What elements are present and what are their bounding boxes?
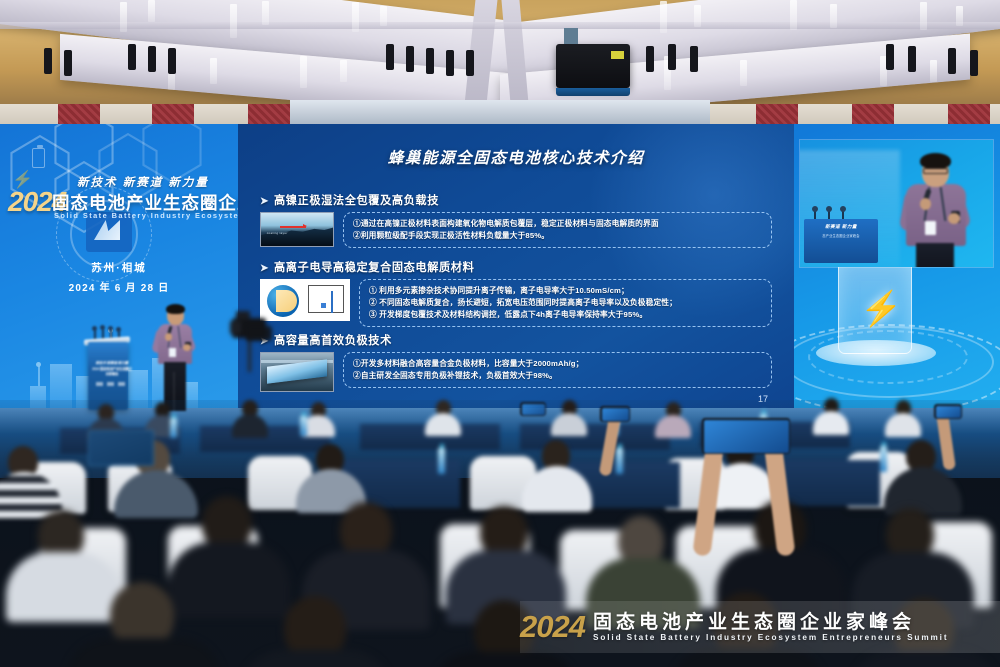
- feed-podium: 新赛道 新力量 态产业生态圈企业家峰会: [804, 219, 878, 263]
- conference-hall-photo: ⚡ 新技术 新赛道 新力量 2024 固态电池产业生态圈企业家峰会 Solid …: [0, 0, 1000, 667]
- raised-arm: [936, 411, 956, 470]
- event-watermark: 2024 固态电池产业生态圈企业家峰会 Solid State Battery …: [520, 601, 1000, 653]
- section-bullets: ① 利用多元素掺杂技术协同提升离子传输，离子电导率大于10.50mS/cm； ②…: [359, 279, 772, 327]
- feed-podium-tagline: 新赛道 新力量: [804, 224, 878, 230]
- stage-podium: 新技术 新赛道 新力量 2024 固态电池产业生态圈企业家峰会: [84, 330, 130, 410]
- slide-title: 蜂巢能源全固态电池核心技术介绍: [238, 146, 794, 168]
- stage-presenter: [152, 306, 198, 411]
- laptop-screen: [88, 430, 154, 466]
- podium-tagline: 新技术 新赛道 新力量: [92, 360, 132, 365]
- bullet-line: ③ 开发梯度包覆技术及材料结构调控，低露点下4h离子电导率保持率大于95%。: [369, 309, 763, 321]
- bullet-line: ②自主研发全固态专用负极补锂技术，负极首效大于98%。: [353, 370, 763, 382]
- watermark-year: 2024: [520, 609, 585, 645]
- bullet-line: ①开发多材料融合高容量合金负极材料，比容量大于2000mAh/g；: [353, 358, 763, 370]
- left-panel-city: 苏州·相城: [0, 260, 238, 275]
- slide-section: ➤高离子电导高稳定复合固态电解质材料 ① 利用多元素掺杂技术协同提升离子传输，离…: [260, 259, 772, 327]
- smartphone-camera: [702, 418, 790, 454]
- ceiling-projector: [556, 44, 630, 88]
- slide-section: ➤高容量高首效负极技术 ①开发多材料融合高容量合金负极材料，比容量大于2000m…: [260, 332, 772, 392]
- presentation-slide: 蜂巢能源全固态电池核心技术介绍 ➤高镍正极湿法全包覆及高负载技 coating …: [238, 124, 794, 414]
- left-panel-date: 2024 年 6 月 28 日: [0, 279, 238, 294]
- bullet-line: ②利用颗粒级配手段实现正极活性材料负载量大于85%。: [353, 230, 763, 242]
- bullet-line: ①通过在高镍正极材料表面构建氧化物电解质包覆层，稳定正极材料与固态电解质的界面: [353, 218, 763, 230]
- podium-title: 2024 固态电池产业生态圈企业家峰会: [92, 366, 132, 376]
- raised-arm: [763, 431, 796, 556]
- left-panel-tagline: 新技术 新赛道 新力量: [58, 174, 228, 190]
- smartphone-camera: [934, 404, 962, 419]
- section-bullets: ①开发多材料融合高容量合金负极材料，比容量大于2000mAh/g； ②自主研发全…: [343, 352, 772, 388]
- section-thumbnail: [260, 279, 350, 321]
- smartphone-camera: [600, 406, 630, 422]
- bullet-line: ② 不同固态电解质复合，扬长避短，拓宽电压范围同时提高离子电导率以及负极稳定性；: [369, 297, 763, 309]
- chevron-right-icon: ➤: [260, 263, 269, 274]
- smartphone-camera: [520, 402, 546, 416]
- feed-speaker: [896, 151, 974, 267]
- watermark-title-cn: 固态电池产业生态圈企业家峰会: [593, 612, 949, 633]
- section-heading: ➤高容量高首效负极技术: [260, 332, 772, 348]
- watermark-title-en: Solid State Battery Industry Ecosystem E…: [593, 633, 949, 642]
- section-heading: ➤高离子电导高稳定复合固态电解质材料: [260, 259, 772, 275]
- section-heading: ➤高镍正极湿法全包覆及高负载技: [260, 192, 772, 208]
- section-thumbnail: coating layer: [260, 212, 334, 247]
- feed-podium-title: 态产业生态圈企业家峰会: [804, 233, 878, 238]
- section-bullets: ①通过在高镍正极材料表面构建氧化物电解质包覆层，稳定正极材料与固态电解质的界面 …: [343, 212, 772, 248]
- left-panel-title-en: Solid State Battery Industry Ecosystem E…: [54, 211, 238, 220]
- raised-arm: [599, 413, 622, 476]
- live-camera-feed-panel[interactable]: 新赛道 新力量 态产业生态圈企业家峰会: [800, 140, 993, 267]
- stage-valance: [290, 100, 710, 126]
- slide-section: ➤高镍正极湿法全包覆及高负载技 coating layer ①通过在高镍正极材料…: [260, 192, 772, 248]
- lightning-bolt-icon: ⚡: [860, 292, 902, 326]
- bullet-line: ① 利用多元素掺杂技术协同提升离子传输，离子电导率大于10.50mS/cm；: [369, 285, 763, 297]
- chevron-right-icon: ➤: [260, 196, 269, 207]
- section-thumbnail: [260, 352, 334, 392]
- battery-icon: [32, 148, 45, 168]
- raised-arm: [692, 429, 725, 556]
